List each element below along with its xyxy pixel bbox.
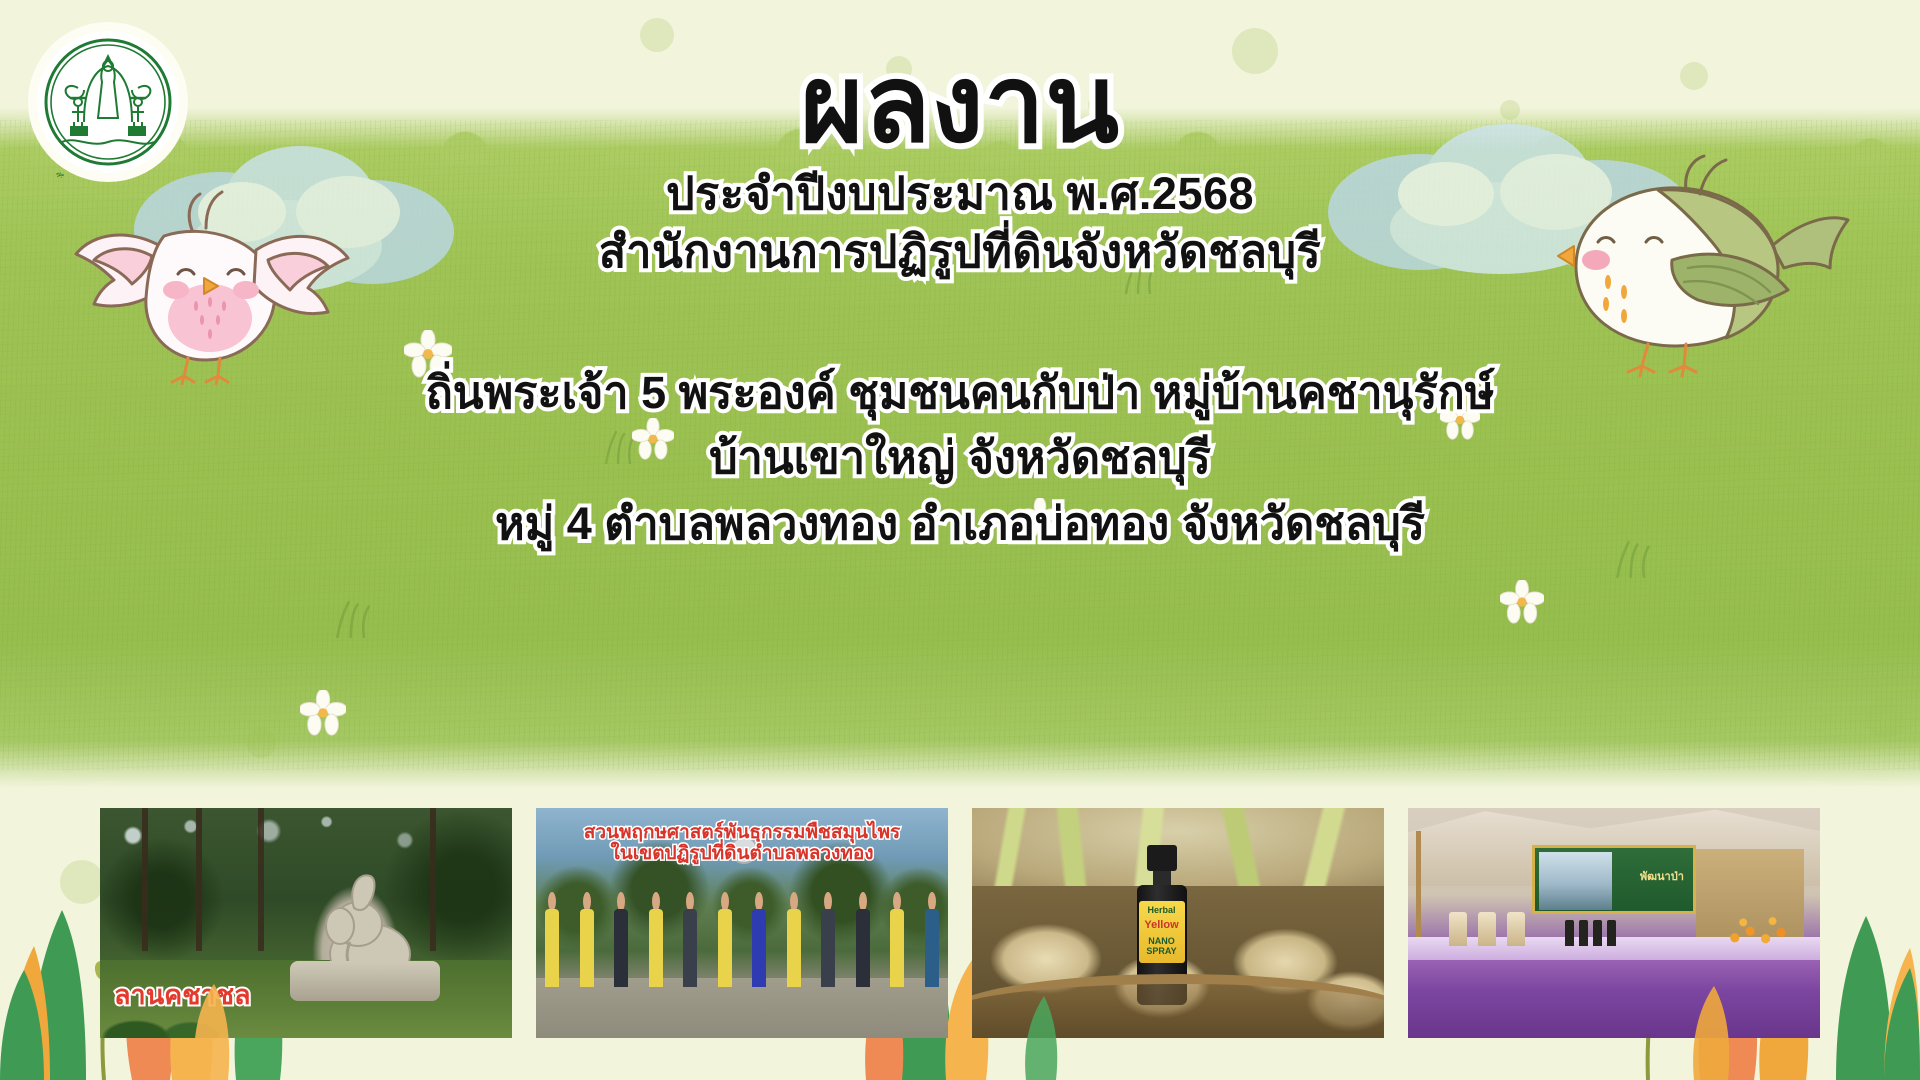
photo-caption: สวนพฤกษศาสตร์พันธุกรรมพืชสมุนไพร ในเขตปฏ… [536, 822, 948, 865]
heading-block: ผลงาน ประจำปีงบประมาณ พ.ศ.2568 สำนักงานก… [0, 44, 1920, 282]
display-item [1478, 912, 1496, 946]
label-line-1: Herbal [1139, 901, 1185, 915]
product-bottle [1579, 920, 1588, 946]
bottle-neck [1153, 871, 1171, 885]
banner-text: พัฒนาป่า [1640, 867, 1684, 885]
product-bottle [1565, 920, 1574, 946]
person [611, 882, 631, 988]
tree-trunk [258, 808, 264, 951]
tree-trunk [142, 808, 148, 951]
person [577, 882, 597, 988]
label-line-3: NANO SPRAY [1139, 932, 1185, 957]
tree-trunk [430, 808, 436, 951]
display-banner: พัฒนาป่า [1532, 845, 1697, 914]
photo-caption-line-2: ในเขตปฏิรูปที่ดินตำบลพลวงทอง [536, 843, 948, 864]
photo-caption-line-1: สวนพฤกษศาสตร์พันธุกรรมพืชสมุนไพร [536, 822, 948, 843]
person [646, 882, 666, 988]
bottle-label: Herbal Yellow NANO SPRAY [1139, 901, 1185, 963]
label-line-2: Yellow [1139, 915, 1185, 932]
poster-canvas: สำนักงานการปฏิรูปที่ดินเพื่อเกษตรกรรม [0, 0, 1920, 1080]
woven-basket [972, 974, 1384, 1038]
tree-trunk [196, 808, 202, 951]
body-line-community: ถิ่นพระเจ้า 5 พระองค์ ชุมชนคนกับป่า หมู่… [0, 360, 1920, 425]
photo-officials-group[interactable]: สวนพฤกษศาสตร์พันธุกรรมพืชสมุนไพร ในเขตปฏ… [536, 808, 948, 1038]
person [680, 882, 700, 988]
display-item [1449, 912, 1467, 946]
display-item [1507, 912, 1525, 946]
page-title: ผลงาน [0, 44, 1920, 165]
person [784, 882, 804, 988]
person [853, 882, 873, 988]
people-row [542, 882, 942, 988]
body-line-village: บ้านเขาใหญ่ จังหวัดชลบุรี [0, 425, 1920, 490]
foreground-leaves [100, 982, 220, 1038]
person [887, 882, 907, 988]
product-bottles [1565, 920, 1616, 946]
subtitle-office-name: สำนักงานการปฏิรูปที่ดินจังหวัดชลบุรี [0, 223, 1920, 282]
photo-product-display-booth[interactable]: พัฒนาป่า [1408, 808, 1820, 1038]
product-bottle [1593, 920, 1602, 946]
body-block: ถิ่นพระเจ้า 5 พระองค์ ชุมชนคนกับป่า หมู่… [0, 360, 1920, 556]
person [922, 882, 942, 988]
person [542, 882, 562, 988]
photo-elephant-statue[interactable]: ลานคชาชล [100, 808, 512, 1038]
subtitle-fiscal-year: ประจำปีงบประมาณ พ.ศ.2568 [0, 165, 1920, 224]
royal-portrait [1539, 852, 1612, 910]
person [749, 882, 769, 988]
person [715, 882, 735, 988]
photo-herbal-spray-product[interactable]: Herbal Yellow NANO SPRAY [972, 808, 1384, 1038]
statue-base [290, 961, 440, 1001]
body-line-address: หมู่ 4 ตำบลพลวงทอง อำเภอบ่อทอง จังหวัดชล… [0, 491, 1920, 556]
marigold-arrangement [1725, 907, 1795, 951]
bottle-cap [1147, 845, 1177, 871]
person [818, 882, 838, 988]
photo-strip: ลานคชาชล สวน [0, 808, 1920, 1038]
display-table [1408, 960, 1820, 1038]
product-bottle [1607, 920, 1616, 946]
